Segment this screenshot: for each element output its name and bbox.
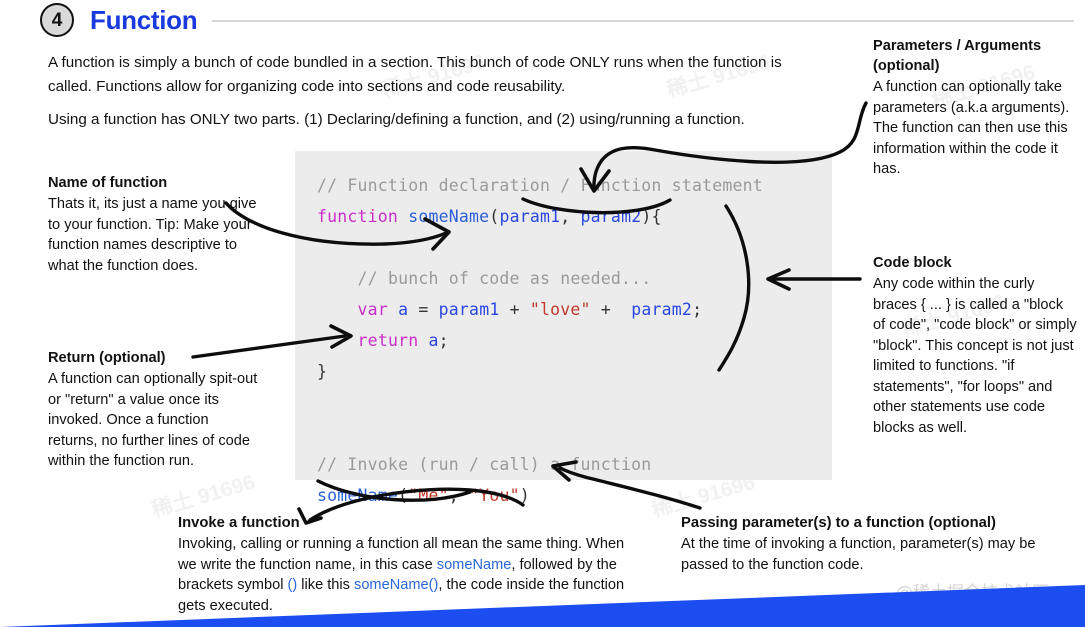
code-function-name: someName: [408, 207, 489, 226]
intro-paragraph-2: Using a function has ONLY two parts. (1)…: [48, 108, 808, 132]
infographic-page: 稀土 91696 稀土 91696 稀土 91696 稀土 91696 稀土 9…: [0, 0, 1085, 627]
page-title: Function: [90, 3, 197, 37]
annotation-body: Thats it, its just a name you give to yo…: [48, 194, 258, 276]
code-keyword-var: var: [358, 300, 388, 319]
annotation-title: Passing parameter(s) to a function (opti…: [681, 513, 1071, 533]
annotation-body: Any code within the curly braces { ... }…: [873, 274, 1077, 438]
code-param1: param1: [499, 207, 560, 226]
annotation-parameters-arguments: Parameters / Arguments (optional) A func…: [873, 36, 1079, 180]
code-arg-you: "You": [469, 486, 520, 505]
annotation-passing-parameters: Passing parameter(s) to a function (opti…: [681, 513, 1071, 575]
annotation-title: Name of function: [48, 173, 258, 193]
code-comment-declaration: // Function declaration / Function state…: [317, 176, 763, 195]
code-string-love: "love": [530, 300, 591, 319]
annotation-return-optional: Return (optional) A function can optiona…: [48, 348, 260, 472]
intro-paragraph-1: A function is simply a bunch of code bun…: [48, 51, 808, 99]
code-param1-use: param1: [439, 300, 500, 319]
code-keyword-function: function: [317, 207, 398, 226]
code-var-a: a: [398, 300, 408, 319]
header-divider: [212, 20, 1074, 22]
blue-wedge-shape: [0, 585, 1085, 627]
code-param2: param2: [581, 207, 642, 226]
annotation-title: Return (optional): [48, 348, 260, 368]
code-arg-me: "Me": [408, 486, 449, 505]
code-invoke-name: someName: [317, 486, 398, 505]
annotation-title: Code block: [873, 253, 1077, 273]
code-param2-use: param2: [631, 300, 692, 319]
annotation-inline-code-1: someName: [437, 557, 512, 573]
annotation-title: Invoke a function: [178, 513, 628, 533]
code-return-a: a: [429, 331, 439, 350]
code-keyword-return: return: [358, 331, 419, 350]
blue-wedge-decoration: [0, 585, 1085, 627]
annotation-body: A function can optionally spit-out or "r…: [48, 369, 260, 472]
code-comment-invoke: // Invoke (run / call) a function: [317, 455, 651, 474]
annotation-title: Parameters / Arguments (optional): [873, 36, 1079, 76]
annotation-body: At the time of invoking a function, para…: [681, 534, 1071, 575]
code-block-panel: // Function declaration / Function state…: [295, 151, 832, 480]
annotation-name-of-function: Name of function Thats it, its just a na…: [48, 173, 258, 276]
annotation-code-block: Code block Any code within the curly bra…: [873, 253, 1077, 438]
code-comment-bunch: // bunch of code as needed...: [358, 269, 652, 288]
section-number-badge: 4: [40, 3, 74, 37]
annotation-body: A function can optionally take parameter…: [873, 77, 1079, 180]
code-listing: // Function declaration / Function state…: [317, 170, 763, 511]
